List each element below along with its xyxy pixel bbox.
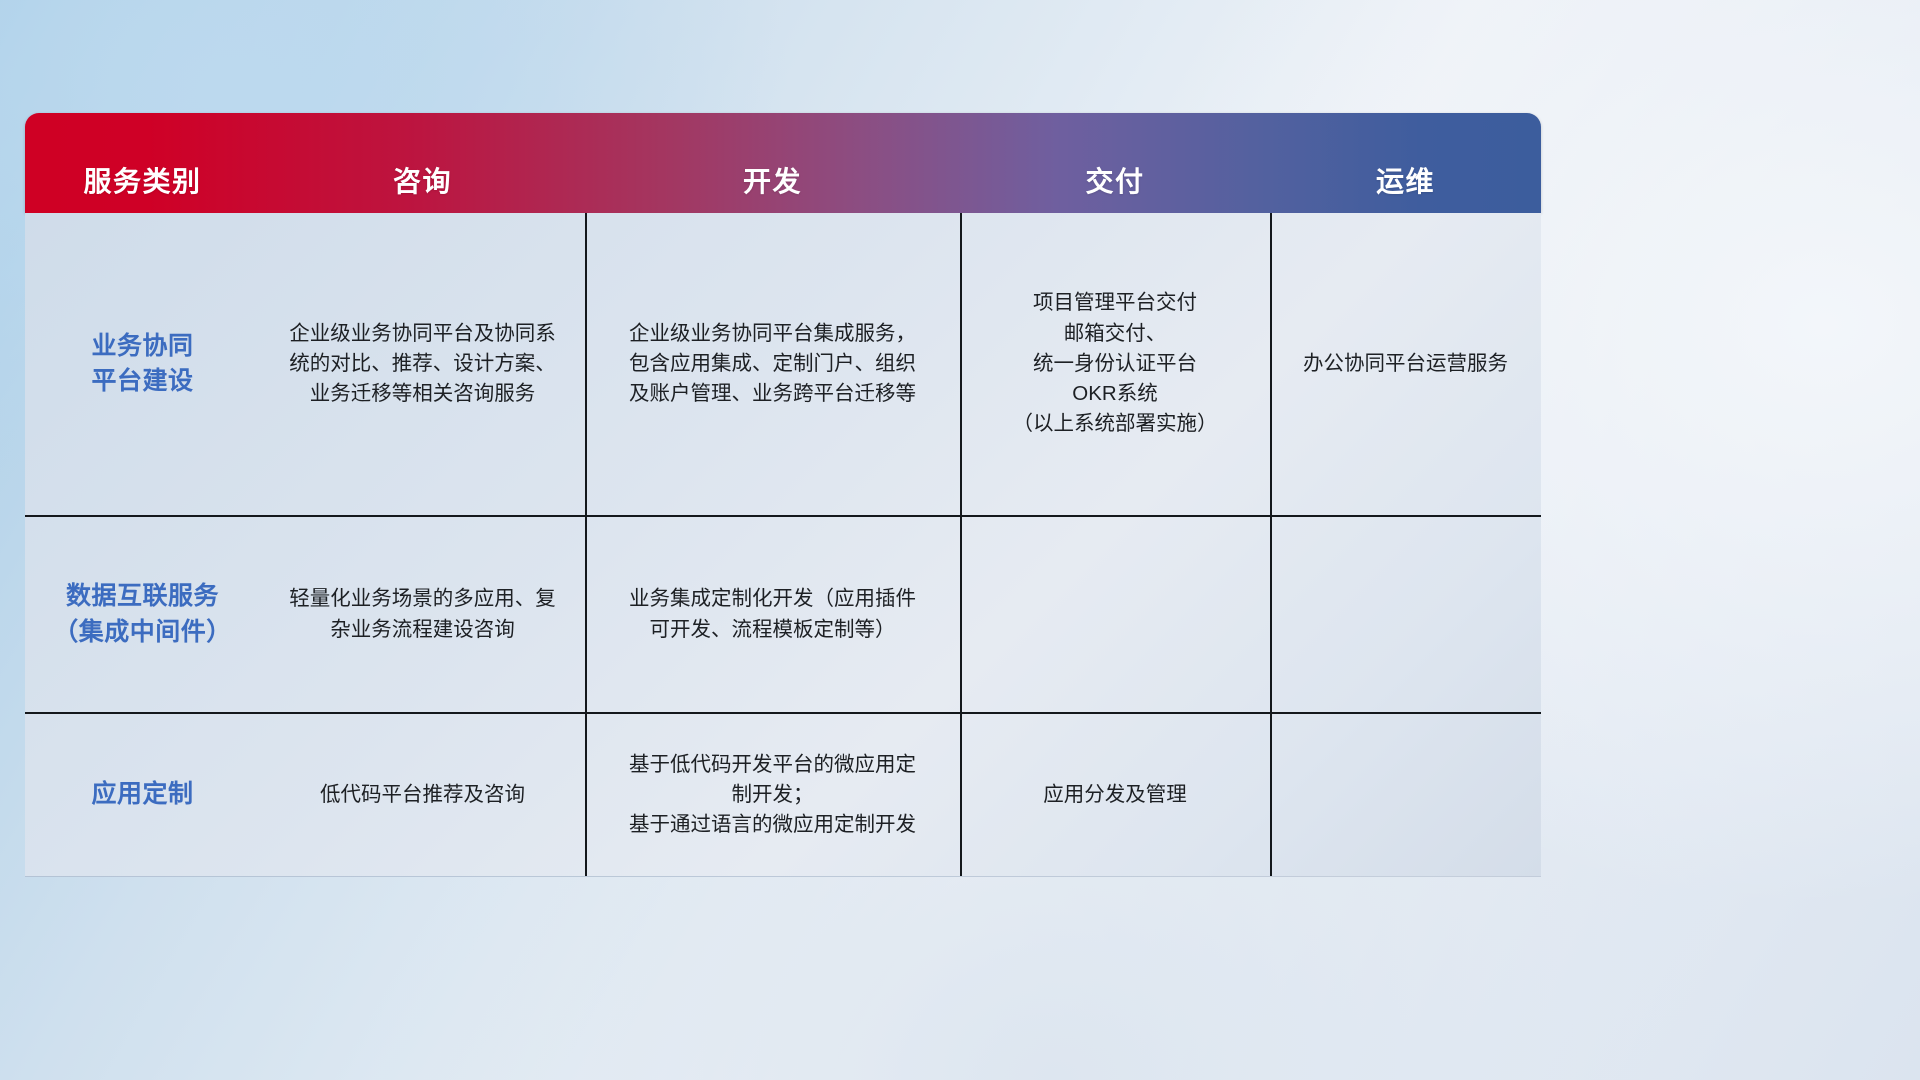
service-matrix-table: 服务类别 咨询 开发 交付 运维 业务协同 平台建设 企业 xyxy=(25,113,1541,778)
cell-operations: 办公协同平台运营服务 xyxy=(1270,213,1541,515)
table-header-cell-operations: 运维 xyxy=(1270,113,1541,213)
cell-delivery: 应用分发及管理 xyxy=(960,714,1270,876)
cell-delivery xyxy=(960,517,1270,712)
cell-development: 企业级业务协同平台集成服务， 包含应用集成、定制门户、组织 及账户管理、业务跨平… xyxy=(585,213,960,515)
table-row: 业务协同 平台建设 企业级业务协同平台及协同系 统的对比、推荐、设计方案、 业务… xyxy=(25,213,1541,515)
header-label-service-category: 服务类别 xyxy=(83,160,201,200)
header-label-operations: 运维 xyxy=(1376,160,1435,200)
table-body: 业务协同 平台建设 企业级业务协同平台及协同系 统的对比、推荐、设计方案、 业务… xyxy=(25,213,1541,877)
cell-operations xyxy=(1270,714,1541,876)
header-label-development: 开发 xyxy=(743,160,802,200)
table-row: 应用定制 低代码平台推荐及咨询 基于低代码开发平台的微应用定 制开发； 基于通过… xyxy=(25,712,1541,876)
cell-consulting: 低代码平台推荐及咨询 xyxy=(260,714,585,876)
cell-development: 基于低代码开发平台的微应用定 制开发； 基于通过语言的微应用定制开发 xyxy=(585,714,960,876)
table-header-row: 服务类别 咨询 开发 交付 运维 xyxy=(25,113,1541,213)
row-category-label: 业务协同 平台建设 xyxy=(25,213,260,515)
row-category-label: 数据互联服务 （集成中间件） xyxy=(25,517,260,712)
table-header-cell-service-category: 服务类别 xyxy=(25,113,260,213)
row-category-label: 应用定制 xyxy=(25,714,260,876)
table-row: 数据互联服务 （集成中间件） 轻量化业务场景的多应用、复 杂业务流程建设咨询 业… xyxy=(25,515,1541,712)
header-label-consulting: 咨询 xyxy=(393,160,452,200)
cell-development: 业务集成定制化开发（应用插件 可开发、流程模板定制等） xyxy=(585,517,960,712)
cell-consulting: 轻量化业务场景的多应用、复 杂业务流程建设咨询 xyxy=(260,517,585,712)
header-label-delivery: 交付 xyxy=(1085,160,1144,200)
cell-delivery: 项目管理平台交付 邮箱交付、 统一身份认证平台 OKR系统 （以上系统部署实施） xyxy=(960,213,1270,515)
table-header-cell-development: 开发 xyxy=(585,113,960,213)
cell-operations xyxy=(1270,517,1541,712)
table-header-cell-delivery: 交付 xyxy=(960,113,1270,213)
cell-consulting: 企业级业务协同平台及协同系 统的对比、推荐、设计方案、 业务迁移等相关咨询服务 xyxy=(260,213,585,515)
slide-canvas: 服务类别 咨询 开发 交付 运维 业务协同 平台建设 企业 xyxy=(0,0,1920,1080)
table-header-cell-consulting: 咨询 xyxy=(260,113,585,213)
